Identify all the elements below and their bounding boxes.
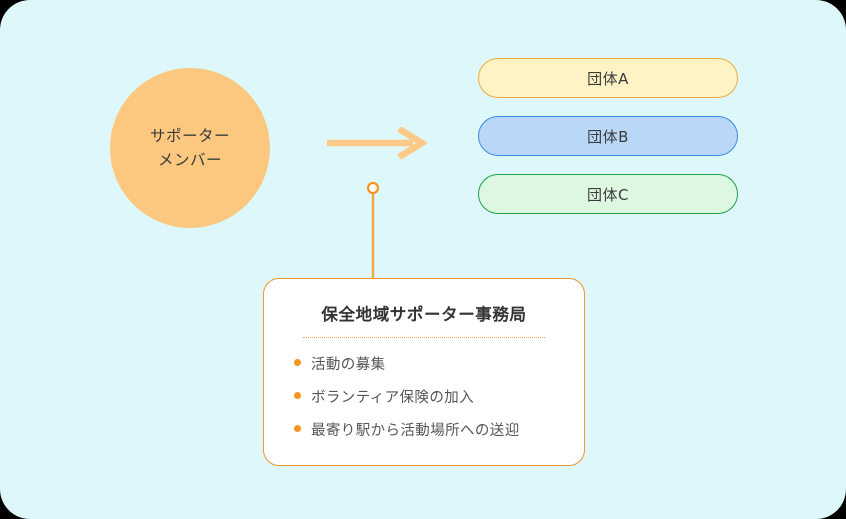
organization-pill-c-label: 団体C [587,184,629,205]
bullet-dot-icon [294,392,301,399]
list-item-label: 活動の募集 [311,357,386,373]
bullet-dot-icon [294,359,301,366]
organization-pill-b-label: 団体B [587,126,629,147]
list-item: 最寄り駅から活動場所への送迎 [294,419,584,440]
connector-line-with-node-icon [358,180,388,290]
office-card-service-list: 活動の募集 ボランティア保険の加入 最寄り駅から活動場所への送迎 [264,353,584,440]
arrow-right-icon [325,127,427,159]
bullet-dot-icon [294,425,301,432]
supporter-label-line2: メンバー [158,148,222,172]
organization-pill-b[interactable]: 団体B [478,116,738,156]
organization-pill-a-label: 団体A [587,68,629,89]
organization-pill-a[interactable]: 団体A [478,58,738,98]
diagram-canvas: サポーター メンバー 団体A 団体B 団体C 保全地域サポーター事務局 活動の募… [0,0,846,519]
supporter-member-circle: サポーター メンバー [110,68,270,228]
office-card-divider [303,337,545,338]
supporter-label-line1: サポーター [150,124,230,148]
organization-pill-c[interactable]: 団体C [478,174,738,214]
list-item: 活動の募集 [294,353,584,374]
office-card: 保全地域サポーター事務局 活動の募集 ボランティア保険の加入 最寄り駅から活動場… [263,278,585,466]
list-item-label: 最寄り駅から活動場所への送迎 [311,423,520,439]
office-card-title: 保全地域サポーター事務局 [264,301,584,325]
list-item: ボランティア保険の加入 [294,386,584,407]
list-item-label: ボランティア保険の加入 [311,390,474,406]
